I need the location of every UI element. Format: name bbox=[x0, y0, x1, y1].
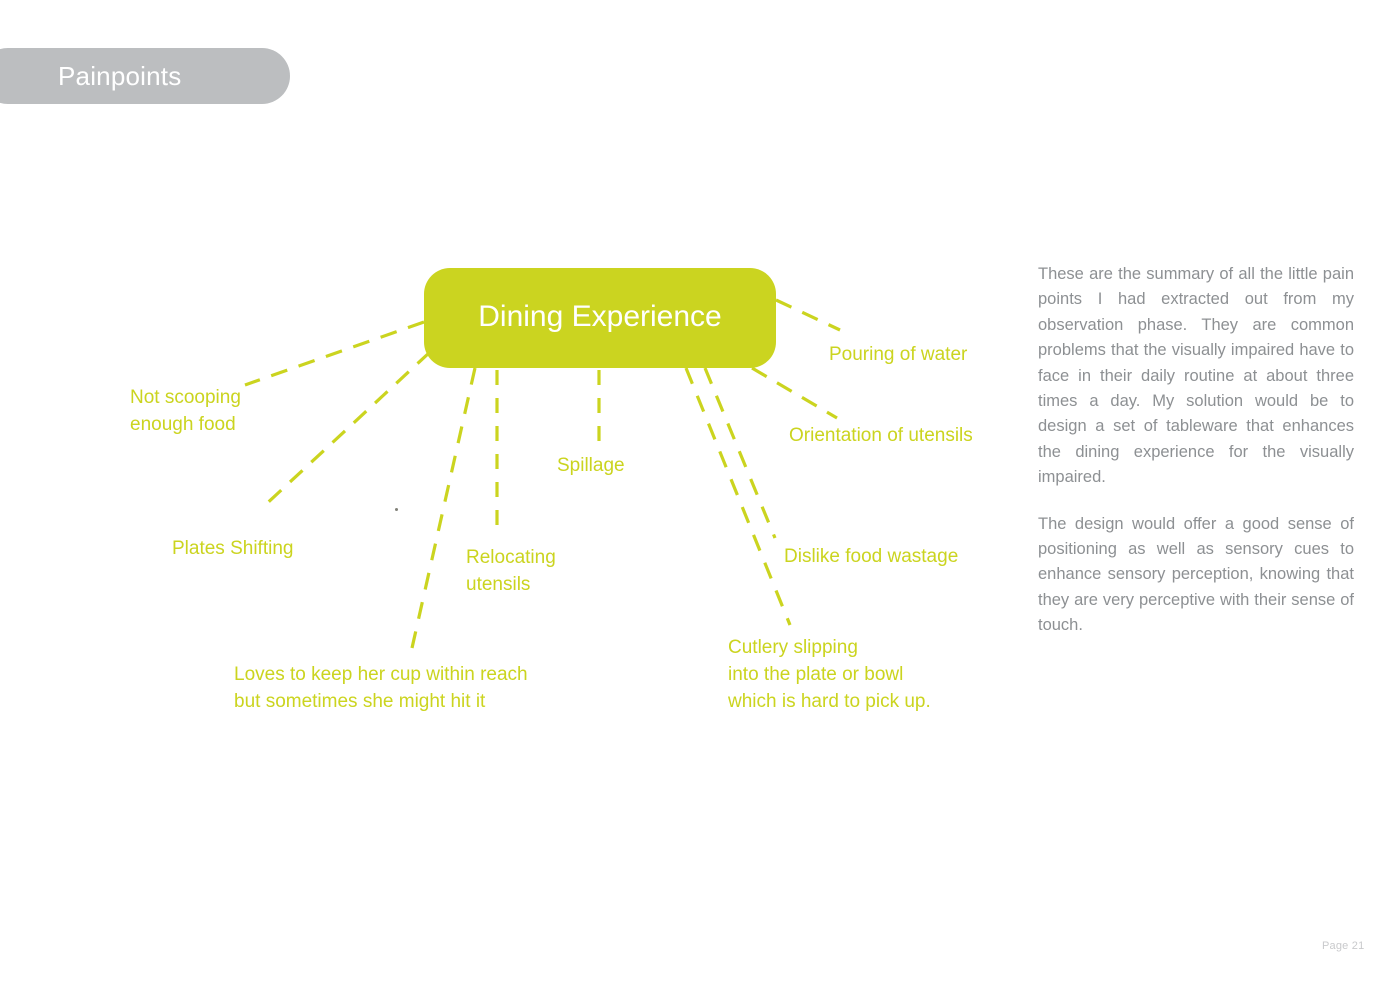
connector-cutlery-slipping bbox=[686, 368, 790, 625]
side-notes-paragraph-2: The design would offer a good sense of p… bbox=[1038, 512, 1354, 639]
connector-orientation-of-utensils bbox=[752, 368, 837, 418]
mindmap-node-dislike-food-wastage[interactable]: Dislike food wastage bbox=[784, 543, 958, 570]
mindmap-center-label: Dining Experience bbox=[424, 297, 776, 337]
page-number: Page 21 bbox=[1322, 940, 1364, 952]
connector-plates-shifting bbox=[262, 352, 430, 508]
mindmap-node-cutlery-slipping[interactable]: Cutlery slipping into the plate or bowl … bbox=[728, 634, 931, 715]
connector-not-scooping-enough-food bbox=[245, 322, 424, 385]
slide-canvas: Painpoints Dining Experience Not scoopin… bbox=[0, 0, 1400, 990]
mindmap-node-plates-shifting[interactable]: Plates Shifting bbox=[172, 535, 293, 562]
mindmap-node-pouring-of-water[interactable]: Pouring of water bbox=[829, 341, 967, 368]
mindmap-node-relocating-utensils[interactable]: Relocating utensils bbox=[466, 544, 556, 598]
side-notes-paragraph-1: These are the summary of all the little … bbox=[1038, 262, 1354, 491]
mindmap-node-spillage[interactable]: Spillage bbox=[557, 452, 625, 479]
mindmap-node-cup-within-reach[interactable]: Loves to keep her cup within reach but s… bbox=[234, 661, 528, 715]
page-title: Painpoints bbox=[58, 60, 181, 92]
mindmap-node-orientation-of-utensils[interactable]: Orientation of utensils bbox=[789, 422, 973, 449]
mindmap-node-not-scooping-enough-food[interactable]: Not scooping enough food bbox=[130, 384, 241, 438]
connector-dislike-food-wastage bbox=[705, 368, 775, 538]
stray-speck bbox=[395, 508, 398, 511]
connector-pouring-of-water bbox=[776, 300, 840, 330]
side-notes: These are the summary of all the little … bbox=[1038, 262, 1354, 639]
connector-cup-within-reach bbox=[412, 368, 475, 648]
